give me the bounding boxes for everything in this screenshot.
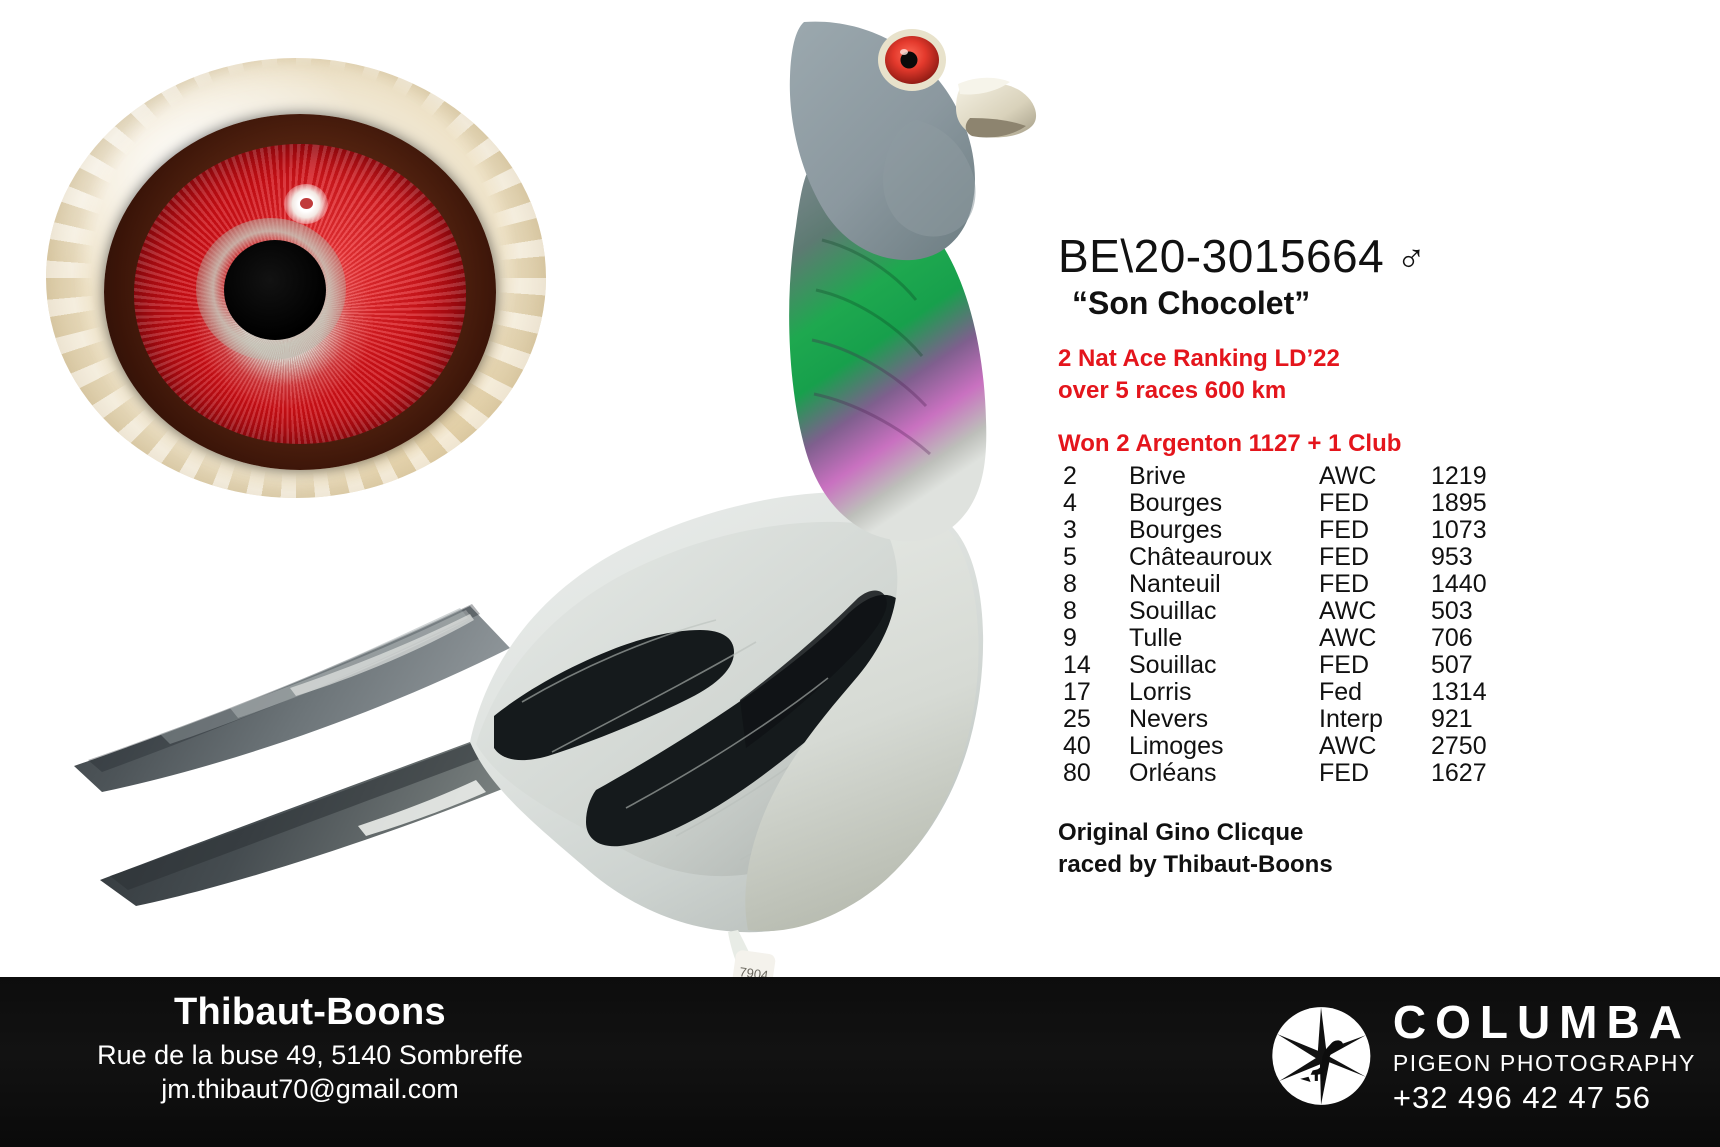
result-race: Lorris	[1129, 679, 1319, 706]
result-position: 3	[1058, 517, 1129, 544]
result-position: 25	[1058, 706, 1129, 733]
result-race: Souillac	[1129, 598, 1319, 625]
table-row: 3 Bourges FED 1073	[1058, 517, 1678, 544]
result-position: 5	[1058, 544, 1129, 571]
origin-line-2: raced by Thibaut-Boons	[1058, 849, 1678, 881]
result-org: FED	[1319, 544, 1431, 571]
origin-block: Original Gino Clicque raced by Thibaut-B…	[1058, 817, 1678, 880]
won-headline: Won 2 Argenton 1127 + 1 Club	[1058, 428, 1678, 459]
brand-phone[interactable]: +32 496 42 47 56	[1393, 1082, 1696, 1113]
result-race: Nevers	[1129, 706, 1319, 733]
result-race: Nanteuil	[1129, 571, 1319, 598]
table-row: 8 Nanteuil FED 1440	[1058, 571, 1678, 598]
table-row: 2 Brive AWC 1219	[1058, 463, 1678, 490]
result-position: 17	[1058, 679, 1129, 706]
sex-symbol-male: ♂	[1396, 237, 1427, 281]
columba-brand-block: COLUMBA PIGEON PHOTOGRAPHY +32 496 42 47…	[1269, 999, 1696, 1113]
ring-number-value: BE\20-3015664	[1058, 230, 1384, 282]
brand-text-block: COLUMBA PIGEON PHOTOGRAPHY +32 496 42 47…	[1393, 999, 1696, 1113]
table-row: 8 Souillac AWC 503	[1058, 598, 1678, 625]
studio-contact-block: Thibaut-Boons Rue de la buse 49, 5140 So…	[0, 991, 620, 1105]
result-birds: 921	[1431, 706, 1541, 733]
studio-name: Thibaut-Boons	[0, 991, 620, 1035]
result-race: Bourges	[1129, 490, 1319, 517]
result-birds: 1440	[1431, 571, 1541, 598]
race-results-list: 2 Brive AWC 1219 4 Bourges FED 1895 3 Bo…	[1058, 463, 1678, 787]
brand-subtitle: PIGEON PHOTOGRAPHY	[1393, 1052, 1696, 1075]
result-org: AWC	[1319, 733, 1431, 760]
result-org: FED	[1319, 490, 1431, 517]
result-org: FED	[1319, 652, 1431, 679]
result-race: Tulle	[1129, 625, 1319, 652]
ace-ranking-block: 2 Nat Ace Ranking LD’22 over 5 races 600…	[1058, 343, 1678, 405]
table-row: 5 Châteauroux FED 953	[1058, 544, 1678, 571]
result-org: AWC	[1319, 463, 1431, 490]
result-birds: 1073	[1431, 517, 1541, 544]
result-org: AWC	[1319, 625, 1431, 652]
pedigree-info-panel: BE\20-3015664♂ “Son Chocolet” 2 Nat Ace …	[1058, 232, 1678, 880]
result-position: 4	[1058, 490, 1129, 517]
result-org: FED	[1319, 517, 1431, 544]
footer-bar: Thibaut-Boons Rue de la buse 49, 5140 So…	[0, 977, 1720, 1147]
result-race: Bourges	[1129, 517, 1319, 544]
result-race: Orléans	[1129, 760, 1319, 787]
table-row: 25 Nevers Interp 921	[1058, 706, 1678, 733]
result-position: 2	[1058, 463, 1129, 490]
result-birds: 507	[1431, 652, 1541, 679]
result-org: Fed	[1319, 679, 1431, 706]
result-org: FED	[1319, 571, 1431, 598]
result-race: Châteauroux	[1129, 544, 1319, 571]
result-position: 40	[1058, 733, 1129, 760]
result-race: Limoges	[1129, 733, 1319, 760]
brand-name: COLUMBA	[1393, 999, 1696, 1045]
pigeon-pedigree-card: 7904 BE\20-3015664♂ “Son Chocolet” 2 N	[0, 0, 1720, 1147]
result-birds: 503	[1431, 598, 1541, 625]
ring-number-heading: BE\20-3015664♂	[1058, 232, 1678, 280]
result-race: Brive	[1129, 463, 1319, 490]
result-birds: 1219	[1431, 463, 1541, 490]
result-birds: 1314	[1431, 679, 1541, 706]
result-org: Interp	[1319, 706, 1431, 733]
result-org: FED	[1319, 760, 1431, 787]
bird-name: “Son Chocolet”	[1072, 286, 1678, 321]
studio-email[interactable]: jm.thibaut70@gmail.com	[0, 1073, 620, 1105]
origin-line-1: Original Gino Clicque	[1058, 817, 1678, 849]
result-birds: 706	[1431, 625, 1541, 652]
result-birds: 953	[1431, 544, 1541, 571]
result-birds: 1895	[1431, 490, 1541, 517]
table-row: 17 Lorris Fed 1314	[1058, 679, 1678, 706]
table-row: 4 Bourges FED 1895	[1058, 490, 1678, 517]
result-position: 9	[1058, 625, 1129, 652]
racing-pigeon-photo: 7904	[40, 0, 1080, 1040]
result-position: 8	[1058, 598, 1129, 625]
studio-address: Rue de la buse 49, 5140 Sombreffe	[0, 1039, 620, 1071]
result-position: 80	[1058, 760, 1129, 787]
camera-aperture-pigeon-icon	[1269, 1004, 1373, 1108]
result-org: AWC	[1319, 598, 1431, 625]
table-row: 40 Limoges AWC 2750	[1058, 733, 1678, 760]
ace-ranking-line-1: 2 Nat Ace Ranking LD’22	[1058, 343, 1678, 374]
table-row: 9 Tulle AWC 706	[1058, 625, 1678, 652]
result-position: 14	[1058, 652, 1129, 679]
result-birds: 2750	[1431, 733, 1541, 760]
pigeon-head-eye	[878, 29, 946, 91]
table-row: 80 Orléans FED 1627	[1058, 760, 1678, 787]
result-position: 8	[1058, 571, 1129, 598]
result-race: Souillac	[1129, 652, 1319, 679]
result-birds: 1627	[1431, 760, 1541, 787]
ace-ranking-line-2: over 5 races 600 km	[1058, 375, 1678, 406]
table-row: 14 Souillac FED 507	[1058, 652, 1678, 679]
